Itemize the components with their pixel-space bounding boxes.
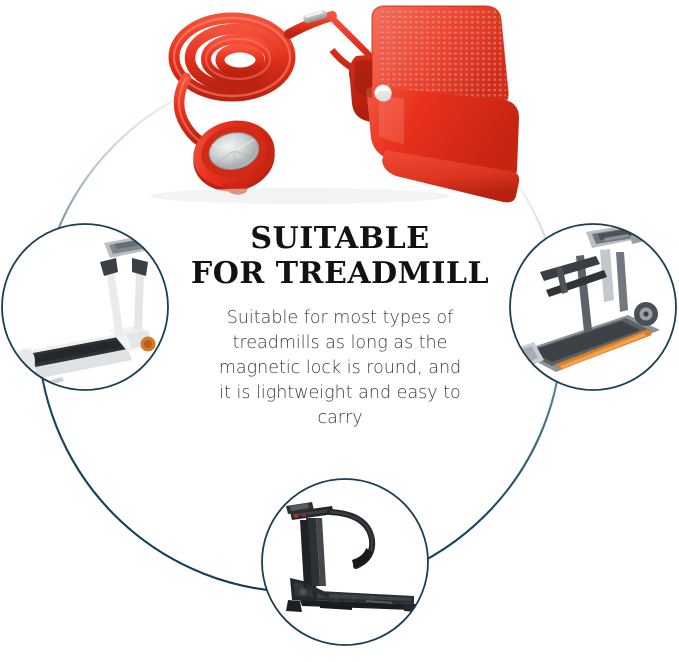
center-text-block: SUITABLE FOR TREADMILL Suitable for most…: [186, 222, 494, 432]
description-line: carry: [186, 406, 494, 431]
description-line: magnetic lock is round, and: [186, 356, 494, 381]
inset-right-commercial-treadmill: [510, 222, 676, 390]
description-line: Suitable for most types of: [186, 306, 494, 331]
coiled-cord: [174, 18, 290, 96]
description-text: Suitable for most types of treadmills as…: [186, 306, 494, 432]
description-line: it is lightweight and easy to: [186, 381, 494, 406]
headline-line-2: FOR TREADMILL: [186, 257, 494, 292]
inset-bottom-folding-treadmill: [262, 479, 428, 645]
inset-left-white-treadmill: [2, 224, 168, 390]
silver-magnetic-disc: [187, 113, 281, 199]
page-title: SUITABLE FOR TREADMILL: [186, 222, 494, 292]
headline-line-1: SUITABLE: [250, 221, 429, 256]
product-image-safety-key: [150, 6, 519, 204]
red-spring-clip: [349, 6, 519, 202]
description-line: treadmills as long as the: [186, 331, 494, 356]
infographic-canvas: SUITABLE FOR TREADMILL Suitable for most…: [0, 0, 679, 662]
